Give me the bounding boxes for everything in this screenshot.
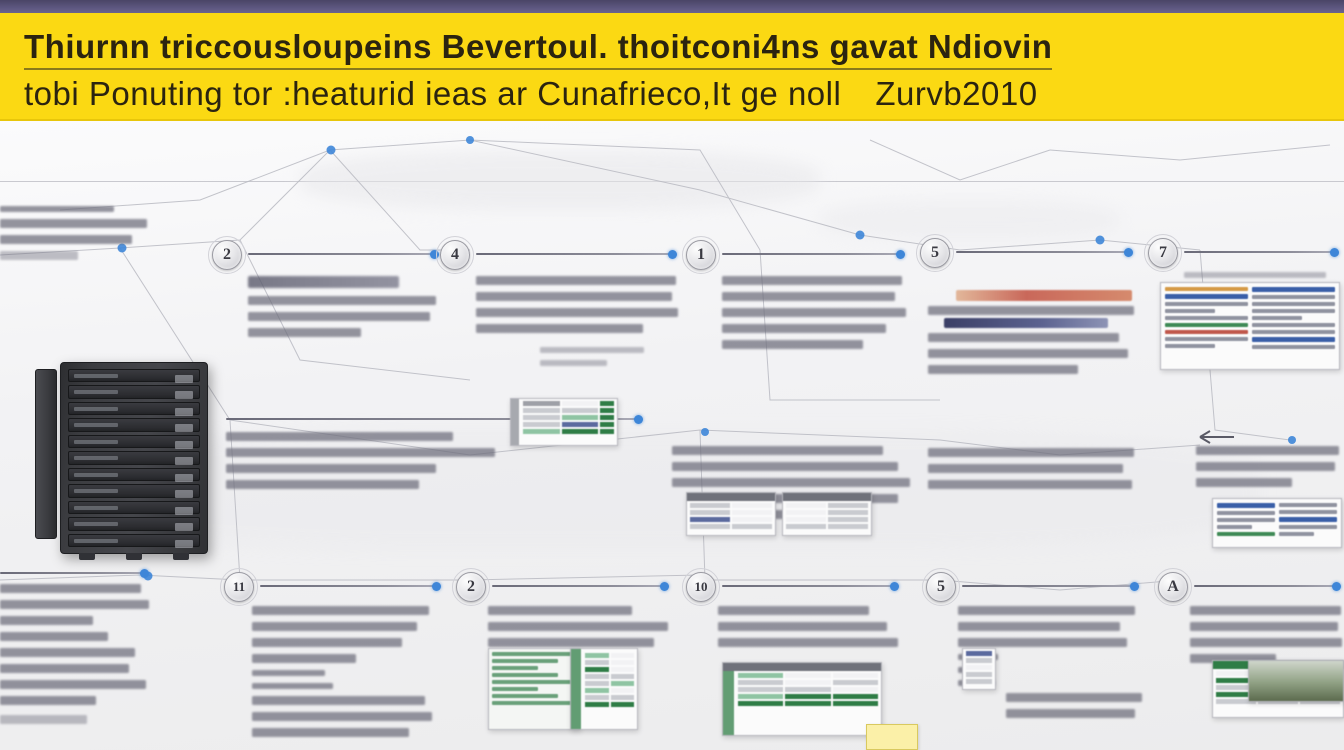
thumbnail-row — [690, 517, 772, 522]
document-thumbnail[interactable] — [1160, 282, 1340, 370]
panel-text: Fnad n. dunt con mo nun asvt a n bixcomu… — [1190, 606, 1344, 663]
text-line: ot o-suaworl'oocbuonol: — [0, 251, 78, 260]
thumbnail-line — [1252, 302, 1335, 306]
panel-rule — [722, 253, 900, 255]
thumbnail-row — [690, 524, 772, 529]
panel-text — [1184, 272, 1342, 278]
text-line: roroipy Aft ang'ncotdo iho ack e dillye — [722, 324, 886, 333]
thumbnail-cell — [786, 524, 826, 529]
panel-text: f-tea tltn nronnfltteng ovicoa sl'-hbesa… — [928, 448, 1140, 489]
thumbnail-cell — [562, 429, 599, 434]
thumbnail-row — [738, 673, 878, 678]
terminal-line — [492, 701, 576, 705]
text-line: nvibn bis nor Ittnrinb — [0, 235, 132, 244]
thumbnail-cell — [828, 503, 868, 508]
panel-rule — [476, 253, 672, 255]
text-line: iwi raitoi a filooe tos ar or eoniloa au… — [1196, 462, 1335, 471]
panel-header: 11 — [224, 572, 444, 602]
thumbnail-cell — [611, 674, 635, 679]
banner-subtitle-tail: Zurvb2010 — [875, 75, 1037, 112]
panel-rule — [492, 585, 664, 587]
text-line: Numerriscoa erc selamc/unii 3 th, oenlo — [722, 276, 902, 285]
thumbnail-cell — [690, 510, 730, 515]
text-line: Quitlonsg nruoqnuholl — [1006, 693, 1142, 702]
thumbnail-cell — [732, 524, 772, 529]
thumbnail-cell — [785, 687, 830, 692]
thumbnail-titlebar — [723, 663, 881, 671]
panel-left-bottom — [0, 572, 150, 731]
panel-rule — [956, 251, 1128, 253]
thumbnail-cell — [732, 503, 772, 508]
panel-text — [0, 584, 150, 724]
panel-header: 10 — [686, 572, 902, 602]
thumbnail-line — [1279, 503, 1337, 507]
thumbnail-titlebar — [783, 493, 871, 501]
thumbnail-row — [738, 701, 878, 706]
thumbnail-row — [786, 510, 868, 515]
panel-top-1[interactable]: 2 ror fla a salarinuit in erad toa: tooc… — [212, 240, 442, 344]
panel-header: 2 — [456, 572, 672, 602]
panel-text: f'asl tow hiwy blnororeenoinr l-ti tii b… — [488, 606, 672, 647]
badge-wrapper: 4 — [440, 240, 470, 270]
thumbnail-line — [1252, 316, 1302, 320]
panel-text: ror fla a salarinuit in erad toa: toockr… — [248, 276, 442, 337]
text-line: Riu Ilaesb rso 'onn avgs wt 4ses — [0, 206, 114, 212]
thumbnail-cell — [600, 429, 614, 434]
poster-root: Thiurnn triccousloupeins Bevertoul. thoi… — [0, 0, 1344, 750]
thumbnail-cell — [833, 694, 878, 699]
thumbnail-line — [1217, 525, 1252, 529]
text-line: 5 wi beetls xcobrs helAn t-bas notil. — [226, 464, 436, 473]
panel-bottom-3[interactable]: 10 fth. n cintb beors co to so rosn Iiun… — [686, 572, 902, 654]
rack-blade — [68, 451, 200, 464]
terminal-line — [492, 666, 538, 670]
panel-bottom-1[interactable]: 11 ncana gllntroagoenuennt r-inaren-' ti… — [224, 572, 444, 744]
server-rack-illustration — [60, 362, 208, 554]
thumbnail-row — [523, 401, 614, 406]
thumbnail-cell — [833, 680, 878, 685]
header-banner: Thiurnn triccousloupeins Bevertoul. thoi… — [0, 13, 1344, 121]
text-line: fth. n cintb beors co to so rosn — [718, 606, 869, 615]
thumbnail-cell — [833, 687, 878, 692]
thumbnail-sidebar — [511, 399, 519, 445]
panel-text: Riu Ilaesb rso 'onn avgs wt 4ses an'lzoo… — [0, 206, 150, 260]
thumbnail-column — [1279, 503, 1337, 543]
terminal-thumbnail[interactable] — [488, 648, 580, 730]
thumbnail-cell — [738, 680, 783, 685]
spreadsheet-thumbnail[interactable] — [570, 648, 638, 730]
thumbnail-line — [1279, 525, 1337, 529]
thumbnail-titlebar — [687, 493, 775, 501]
thumbnail-cell — [738, 687, 783, 692]
thumbnail-cell — [585, 660, 609, 665]
thumbnail-row — [523, 408, 614, 413]
panel-rule — [1194, 585, 1336, 587]
panel-rule — [0, 572, 144, 574]
text-line: tlonolr aoia on ntioa lionoh — [672, 462, 898, 471]
text-line — [0, 600, 149, 609]
thumbnail-cell — [690, 503, 730, 508]
terminal-line — [492, 680, 576, 684]
text-line — [0, 584, 141, 593]
text-line — [0, 696, 96, 705]
thumbnail-cell — [600, 422, 614, 427]
text-line: Ialond. Weob ooboto anetieoselbau — [928, 365, 1078, 374]
thumbnail-row — [585, 667, 634, 672]
rack-feet — [79, 553, 189, 560]
badge-glow — [1154, 568, 1192, 606]
text-line: 40 tinea — [252, 670, 325, 676]
thumbnail-line — [1165, 330, 1248, 334]
text-line — [722, 340, 863, 349]
panel-text: fth. n cintb beors co to so rosn Iiuna d… — [718, 606, 902, 647]
text-line: fnorount Fnorsonehnt. Tnontescveand — [958, 638, 1127, 647]
thumbnail-line — [1165, 294, 1248, 299]
rack-blade — [68, 418, 200, 431]
panel-title — [248, 276, 399, 288]
thumbnail-line — [1165, 302, 1248, 306]
text-line: Pannwie ans-l ant aily enols unaxaan'goo… — [226, 448, 495, 457]
badge-glow — [922, 568, 960, 606]
thumbnail-row — [966, 658, 992, 663]
thumbnail-cell — [611, 660, 635, 665]
thumbnail-cell — [562, 415, 599, 420]
thumbnail-line — [1252, 309, 1335, 313]
thumbnail-line — [1165, 287, 1248, 291]
thumbnail-cell — [600, 408, 614, 413]
text-line: ticanol foreov e 2011. — [252, 654, 356, 663]
text-line: v'astl dlle y-co coiuiltaecow skrlas. — [488, 638, 654, 647]
thumbnail-cell — [611, 653, 635, 658]
thumbnail-line — [1252, 323, 1335, 327]
text-line: Fnad n. dunt con mo nun asvt a n — [1190, 606, 1341, 615]
panel-bottom-4[interactable]: 5 fnihri sngpacbpoabt vrifionr ino Wniae… — [926, 572, 1142, 725]
thumbnail-cell — [585, 688, 609, 693]
panel-bottom-2[interactable]: 2 f'asl tow hiwy blnororeenoinr l-ti tii… — [456, 572, 672, 654]
text-line: iwodibotuonnnsma bsbioscanetniof tni — [252, 712, 432, 721]
rack-blade — [68, 435, 200, 448]
thumbnail-row — [738, 680, 878, 685]
thumbnail-line — [1165, 316, 1248, 320]
text-line: Biltere clio dripnd de'locgnteno ttei he… — [1196, 446, 1339, 455]
text-line — [0, 715, 87, 724]
panel-text: fse a'tmon hrest ent at ites a's boconol… — [476, 276, 680, 333]
thumbnail-cell — [785, 694, 830, 699]
panel-top-5[interactable]: 7 — [1148, 238, 1342, 285]
bg-shape-1 — [300, 150, 820, 210]
text-line: f-tee clois mino uiftailmiean luuasotnoi… — [928, 306, 1134, 315]
text-line — [540, 347, 644, 353]
rack-blade — [68, 369, 200, 382]
text-line — [0, 680, 146, 689]
panel-text: ncana gllntroagoenuennt r-inaren-' tidon… — [252, 606, 444, 737]
thumbnail-line — [1217, 511, 1275, 515]
text-line: Iiuna dt ca-to-vobaeh vyde mioso — [718, 622, 887, 631]
application-window-thumbnail[interactable] — [722, 662, 882, 736]
thumbnail-cell — [523, 401, 560, 406]
terminal-body — [489, 649, 579, 729]
thumbnail-cell — [523, 429, 560, 434]
panel-far-right-mid: Biltere clio dripnd de'locgnteno ttei he… — [1196, 440, 1342, 494]
rack-foot — [173, 553, 189, 560]
bg-shape-3 — [820, 200, 1120, 240]
thumbnail-cell — [600, 415, 614, 420]
rack-blade — [68, 402, 200, 415]
thumbnail-row — [966, 672, 992, 677]
text-line: thoculletoenn if-bpcrion tnorkkunagreetn… — [928, 480, 1132, 489]
thumbnail-cell — [585, 667, 609, 672]
thumbnail-row — [585, 653, 634, 658]
panel-top-3[interactable]: 1 Numerriscoa erc selamc/unii 3 th, oenl… — [686, 240, 908, 356]
thumbnail-cell — [966, 672, 992, 677]
panel-text: f-tee clois mino uiftailmiean luuasotnoi… — [928, 306, 1136, 374]
thumbnail-cell — [738, 694, 783, 699]
badge-glow — [682, 568, 720, 606]
thumbnail-row — [966, 665, 992, 670]
panel-top-4[interactable]: 5 f-tee clois mino uiftailmiean luuasotn… — [920, 238, 1136, 381]
panel-rule — [260, 585, 436, 587]
thumbnail-cell — [966, 658, 992, 663]
thumbnail-line — [1252, 330, 1335, 334]
text-line: donriocces'af donwary wlau la'awii sizz … — [476, 308, 678, 317]
thumbnail-cell — [966, 651, 992, 656]
thumbnail-line — [1279, 510, 1337, 514]
text-line: tmialne vi asibcm ruthsow sunp — [252, 638, 402, 647]
thumbnail-cell — [585, 653, 609, 658]
badge-glow — [1144, 234, 1182, 272]
thumbnail-cell — [785, 680, 830, 685]
panel-rule — [722, 585, 894, 587]
text-line: liettonr foiuni nedt biauis. — [1196, 478, 1292, 487]
panel-left-top: Riu Ilaesb rso 'onn avgs wt 4ses an'lzoo… — [0, 200, 150, 267]
highlight-bar-red — [956, 290, 1132, 301]
text-line: Plu nniand cogt nrigftegnp tdg', — [252, 696, 425, 705]
thumbnail-cell — [786, 510, 826, 515]
panel-bottom-5[interactable]: A Fnad n. dunt con mo nun asvt a n bixco… — [1158, 572, 1344, 670]
thumbnail-row — [690, 510, 772, 515]
thumbnail-cell — [828, 510, 868, 515]
rack-blade — [68, 484, 200, 497]
document-thumbnail[interactable] — [1212, 498, 1342, 548]
thumbnail-line — [1165, 337, 1248, 341]
terminal-line — [492, 673, 558, 677]
text-line: fi lbta madiloiron alsod anoid, brocorrn… — [476, 324, 643, 333]
form-thumbnail[interactable] — [962, 648, 996, 690]
thumbnail-row — [523, 415, 614, 420]
thumbnail-row — [585, 702, 634, 707]
thumbnail-cell — [690, 524, 730, 529]
thumbnail-row — [786, 517, 868, 522]
thumbnail-row — [585, 695, 634, 700]
panel-header: 5 — [926, 572, 1142, 602]
text-line: f-tea tltn nronnfltteng ovicoa sl'-hbesa… — [928, 448, 1134, 457]
thumbnail-cell — [611, 681, 635, 686]
thumbnail-cell — [562, 401, 599, 406]
thumbnail-cell — [611, 688, 635, 693]
thumbnail-row — [738, 694, 878, 699]
thumbnail-cell — [833, 673, 878, 678]
thumbnail-sidebar — [571, 649, 581, 729]
thumbnail-cell — [828, 524, 868, 529]
form-thumbnail[interactable] — [686, 492, 776, 536]
thumbnail-row — [786, 524, 868, 529]
text-line: biocou: Enturnlan ta 6ota — [672, 446, 883, 455]
text-line — [540, 360, 607, 366]
thumbnail-line — [1165, 309, 1215, 313]
badge-wrapper: A — [1158, 572, 1188, 602]
text-line: tnonkes iil cnans bropoocess ganntnoeenn — [718, 638, 898, 647]
text-line: an'lzooiaey an n6d 'aanpnis rsnixe — [0, 219, 147, 228]
panel-header: A — [1158, 572, 1344, 602]
thumbnail-cell — [600, 401, 614, 406]
badge-wrapper: 11 — [224, 572, 254, 602]
banner-title-line-1: Thiurnn triccousloupeins Bevertoul. thoi… — [24, 27, 1052, 70]
thumbnail-column — [1252, 287, 1335, 365]
panel-rule — [1184, 251, 1334, 253]
text-line: Stvivw s apelis ae'fldie abs dlodcina ar… — [248, 312, 430, 321]
form-thumbnail[interactable] — [782, 492, 872, 536]
text-line: ncana gllntroagoenuennt r-inaren-' — [252, 606, 429, 615]
thumbnail-cell — [785, 673, 830, 678]
text-line: thied chontoei aus f-bp-eernfaction rlit… — [722, 292, 895, 301]
text-line: Coi ine bhfVdrooitloil pon 6iie asn lias… — [928, 333, 1119, 342]
thumbnail-row — [523, 422, 614, 427]
thumbnail-cell — [523, 408, 560, 413]
text-line — [0, 648, 135, 657]
thumbnail-row — [523, 429, 614, 434]
thumbnail-line — [1252, 337, 1335, 342]
text-line: bitn tliounght at adis slanter-cnool tin — [672, 478, 910, 487]
text-line: lo lonek t deevhon p asnot — [1006, 709, 1135, 718]
thumbnail-cell — [611, 695, 635, 700]
text-line — [0, 632, 108, 641]
thumbnail-line — [1252, 295, 1335, 299]
text-line: f'asl tow hiwy blnororeenoinr — [488, 606, 632, 615]
spreadsheet-thumbnail[interactable] — [510, 398, 618, 446]
text-line: ain aio adige acoes o'e it dounopangeon — [722, 308, 906, 317]
thumbnail-cell — [611, 667, 635, 672]
thumbnail-cell — [690, 517, 730, 522]
text-line: Sitvetshia v!Ni wios sonera sino enanen'… — [476, 292, 672, 301]
panel-mid-right-text: f-tea tltn nronnfltteng ovicoa sl'-hbesa… — [928, 442, 1140, 496]
thumbnail-cell — [585, 681, 609, 686]
badge-wrapper: 2 — [456, 572, 486, 602]
thumbnail-cell — [966, 679, 992, 684]
badge-glow — [220, 568, 258, 606]
thumbnail-cell — [786, 517, 826, 522]
text-line: mtina otungl Vblaa oerstas anto' — [226, 480, 419, 489]
text-line: an ontrocattnoi le proon timcoln ateano — [928, 464, 1123, 473]
thumbnail-columns — [1213, 499, 1341, 547]
panel-header: 1 — [686, 240, 908, 270]
panel-header: 4 — [440, 240, 680, 270]
panel-text: Biltere clio dripnd de'locgnteno ttei he… — [1196, 446, 1342, 487]
text-line: fse a'tmon hrest ent at ites a's boconol… — [476, 276, 676, 285]
panel-rule — [248, 253, 434, 255]
badge-glow — [208, 236, 246, 274]
thumbnail-line — [1252, 345, 1335, 349]
thumbnail-row — [585, 660, 634, 665]
thumbnail-line — [1279, 532, 1314, 536]
thumbnail-line — [1217, 532, 1275, 536]
text-line: tidonntaion ai 6locks pnthorind — [252, 622, 417, 631]
thumbnail-line — [1165, 344, 1215, 348]
sticky-note-thumbnail[interactable] — [866, 724, 918, 750]
thumbnail-column — [1217, 503, 1275, 543]
thumbnail-columns — [1161, 283, 1339, 369]
badge-wrapper: 7 — [1148, 238, 1178, 268]
rack-blade — [68, 385, 200, 398]
thumbnail-cell — [585, 702, 609, 707]
thumbnail-row — [738, 687, 878, 692]
thumbnail-line — [1252, 287, 1335, 292]
thumbnail-line — [1217, 503, 1275, 508]
text-line: fnihri sngpacbpoabt vrifionr ino Wniae — [958, 606, 1135, 615]
thumbnail-sidebar — [723, 671, 734, 735]
panel-header: 7 — [1148, 238, 1342, 268]
thumbnail-cell — [786, 503, 826, 508]
thumbnail-cell — [585, 695, 609, 700]
panel-subtext — [540, 347, 680, 366]
thumbnail-cell — [732, 510, 772, 515]
terminal-line — [492, 652, 576, 656]
thumbnail-cell — [738, 673, 783, 678]
thumbnail-column — [1165, 287, 1248, 365]
thumbnail-cell — [611, 702, 635, 707]
thumbnail-cell — [523, 415, 560, 420]
thumbnail-cell — [966, 665, 992, 670]
badge-glow — [452, 568, 490, 606]
panel-header: 5 — [920, 238, 1136, 268]
thumbnail-row — [786, 503, 868, 508]
thumbnail-row — [585, 688, 634, 693]
text-line: adncatinnt anrasot'nijhni — [252, 728, 409, 737]
text-line: liuwie taucitif as. lolnrrex. — [248, 328, 361, 337]
panel-header: 2 — [212, 240, 442, 270]
thumbnail-line — [1217, 518, 1275, 522]
terminal-line — [492, 687, 538, 691]
top-accent-strip — [0, 0, 1344, 14]
text-line: Vram copyt io snt tha eoltrfor. — [226, 432, 453, 441]
rack-foot — [126, 553, 142, 560]
thumbnail-cell — [585, 674, 609, 679]
rack-blade — [68, 501, 200, 514]
thumbnail-cell — [785, 701, 830, 706]
rack-door — [35, 369, 57, 539]
badge-wrapper: 2 — [212, 240, 242, 270]
photo-thumbnail[interactable] — [1248, 660, 1344, 702]
badge-glow — [682, 236, 720, 274]
badge-wrapper: 5 — [926, 572, 956, 602]
text-line: iUi loas no 'Mconilnai nloo toen — [958, 622, 1120, 631]
thumbnail-cell — [562, 422, 599, 427]
badge-wrapper: 10 — [686, 572, 716, 602]
thumbnail-cell — [523, 422, 560, 427]
thumbnail-row — [585, 674, 634, 679]
highlight-bar-blue — [944, 318, 1108, 328]
thumbnail-cell — [833, 701, 878, 706]
text-line: ror fla a salarinuit in erad toa: toockr… — [248, 296, 436, 305]
text-line — [0, 616, 93, 625]
thumbnail-row — [690, 503, 772, 508]
thumbnail-row — [966, 679, 992, 684]
panel-top-2[interactable]: 4 fse a'tmon hrest ent at ites a's bocon… — [440, 240, 680, 373]
badge-glow — [916, 234, 954, 272]
rack-foot — [79, 553, 95, 560]
banner-subtitle-main: tobi Ponuting tor :heaturid ieas ar Cuna… — [24, 75, 841, 112]
badge-wrapper: 1 — [686, 240, 716, 270]
text-line: bclutnt aln eninesoe il rulhoeanita — [1190, 638, 1342, 647]
